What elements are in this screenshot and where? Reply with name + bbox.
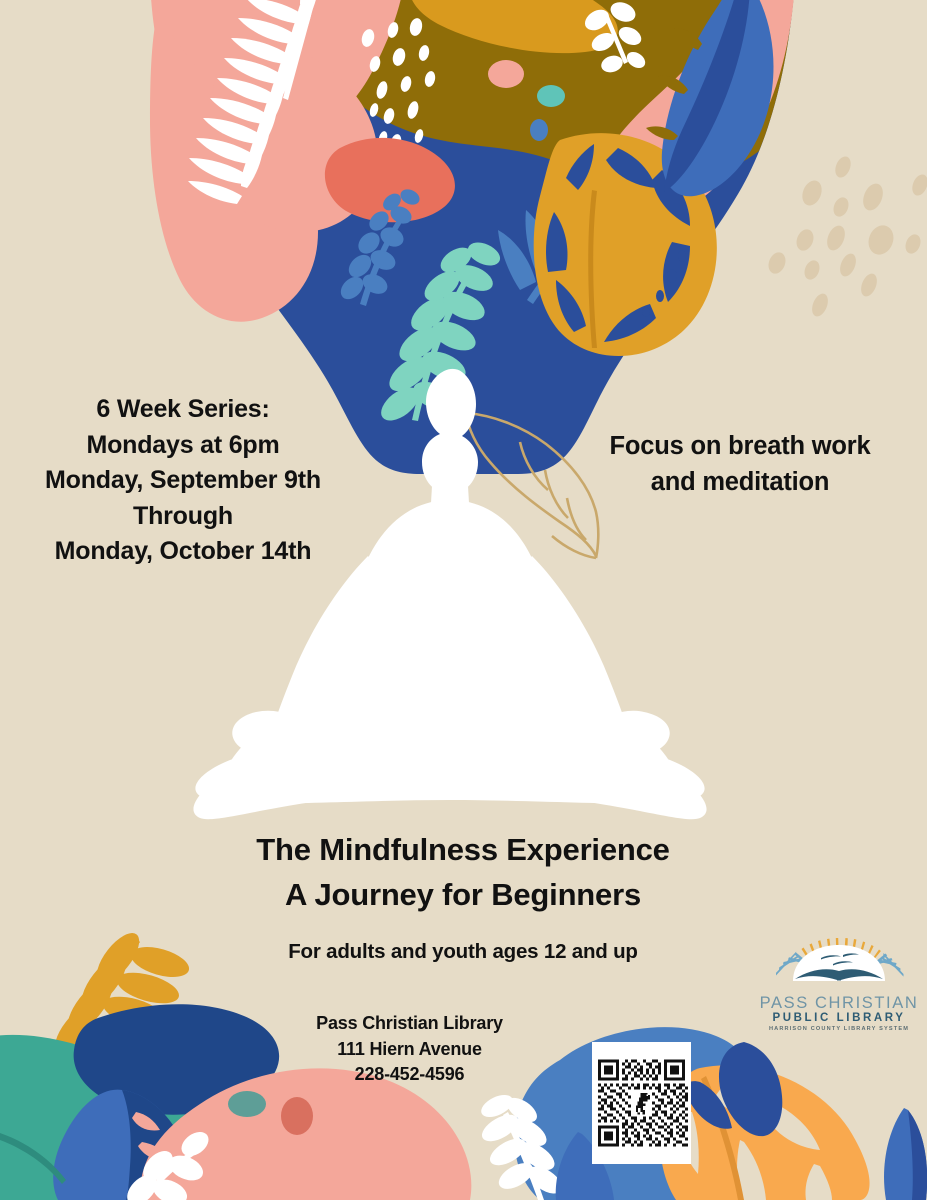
title-line-1: The Mindfulness Experience — [163, 827, 763, 872]
schedule-line-1: 6 Week Series: — [18, 392, 348, 428]
mindfulness-event-poster: 6 Week Series: Mondays at 6pm Monday, Se… — [0, 0, 927, 1200]
schedule-line-4: Through — [18, 499, 348, 535]
logo-subtitle: PUBLIC LIBRARY — [757, 1012, 921, 1025]
audience-note: For adults and youth ages 12 and up — [163, 940, 763, 964]
coral-accent-dot — [281, 1097, 313, 1135]
logo-system-line: HARRISON COUNTY LIBRARY SYSTEM — [757, 1025, 921, 1034]
schedule-line-3: Monday, September 9th — [18, 463, 348, 499]
street-address: 111 Hiern Avenue — [263, 1037, 556, 1063]
sunburst-book-icon — [757, 935, 921, 993]
focus-line-2: and meditation — [560, 464, 920, 500]
logo-name: PASS CHRISTIAN — [757, 994, 921, 1012]
schedule-text-block: 6 Week Series: Mondays at 6pm Monday, Se… — [18, 392, 348, 570]
focus-text-block: Focus on breath work and meditation — [560, 428, 920, 500]
teal-accent-dot — [228, 1091, 266, 1117]
library-logo: PASS CHRISTIAN PUBLIC LIBRARY HARRISON C… — [757, 935, 921, 1031]
schedule-line-2: Mondays at 6pm — [18, 428, 348, 464]
page-title: The Mindfulness Experience A Journey for… — [163, 827, 763, 917]
focus-line-1: Focus on breath work — [560, 428, 920, 464]
contact-info-block: Pass Christian Library 111 Hiern Avenue … — [263, 1011, 556, 1088]
schedule-line-5: Monday, October 14th — [18, 534, 348, 570]
title-line-2: A Journey for Beginners — [163, 872, 763, 917]
dinosaur-glyph — [631, 1090, 652, 1117]
venue-name: Pass Christian Library — [263, 1011, 556, 1037]
qr-code[interactable] — [592, 1042, 691, 1164]
phone-number: 228-452-4596 — [263, 1062, 556, 1088]
